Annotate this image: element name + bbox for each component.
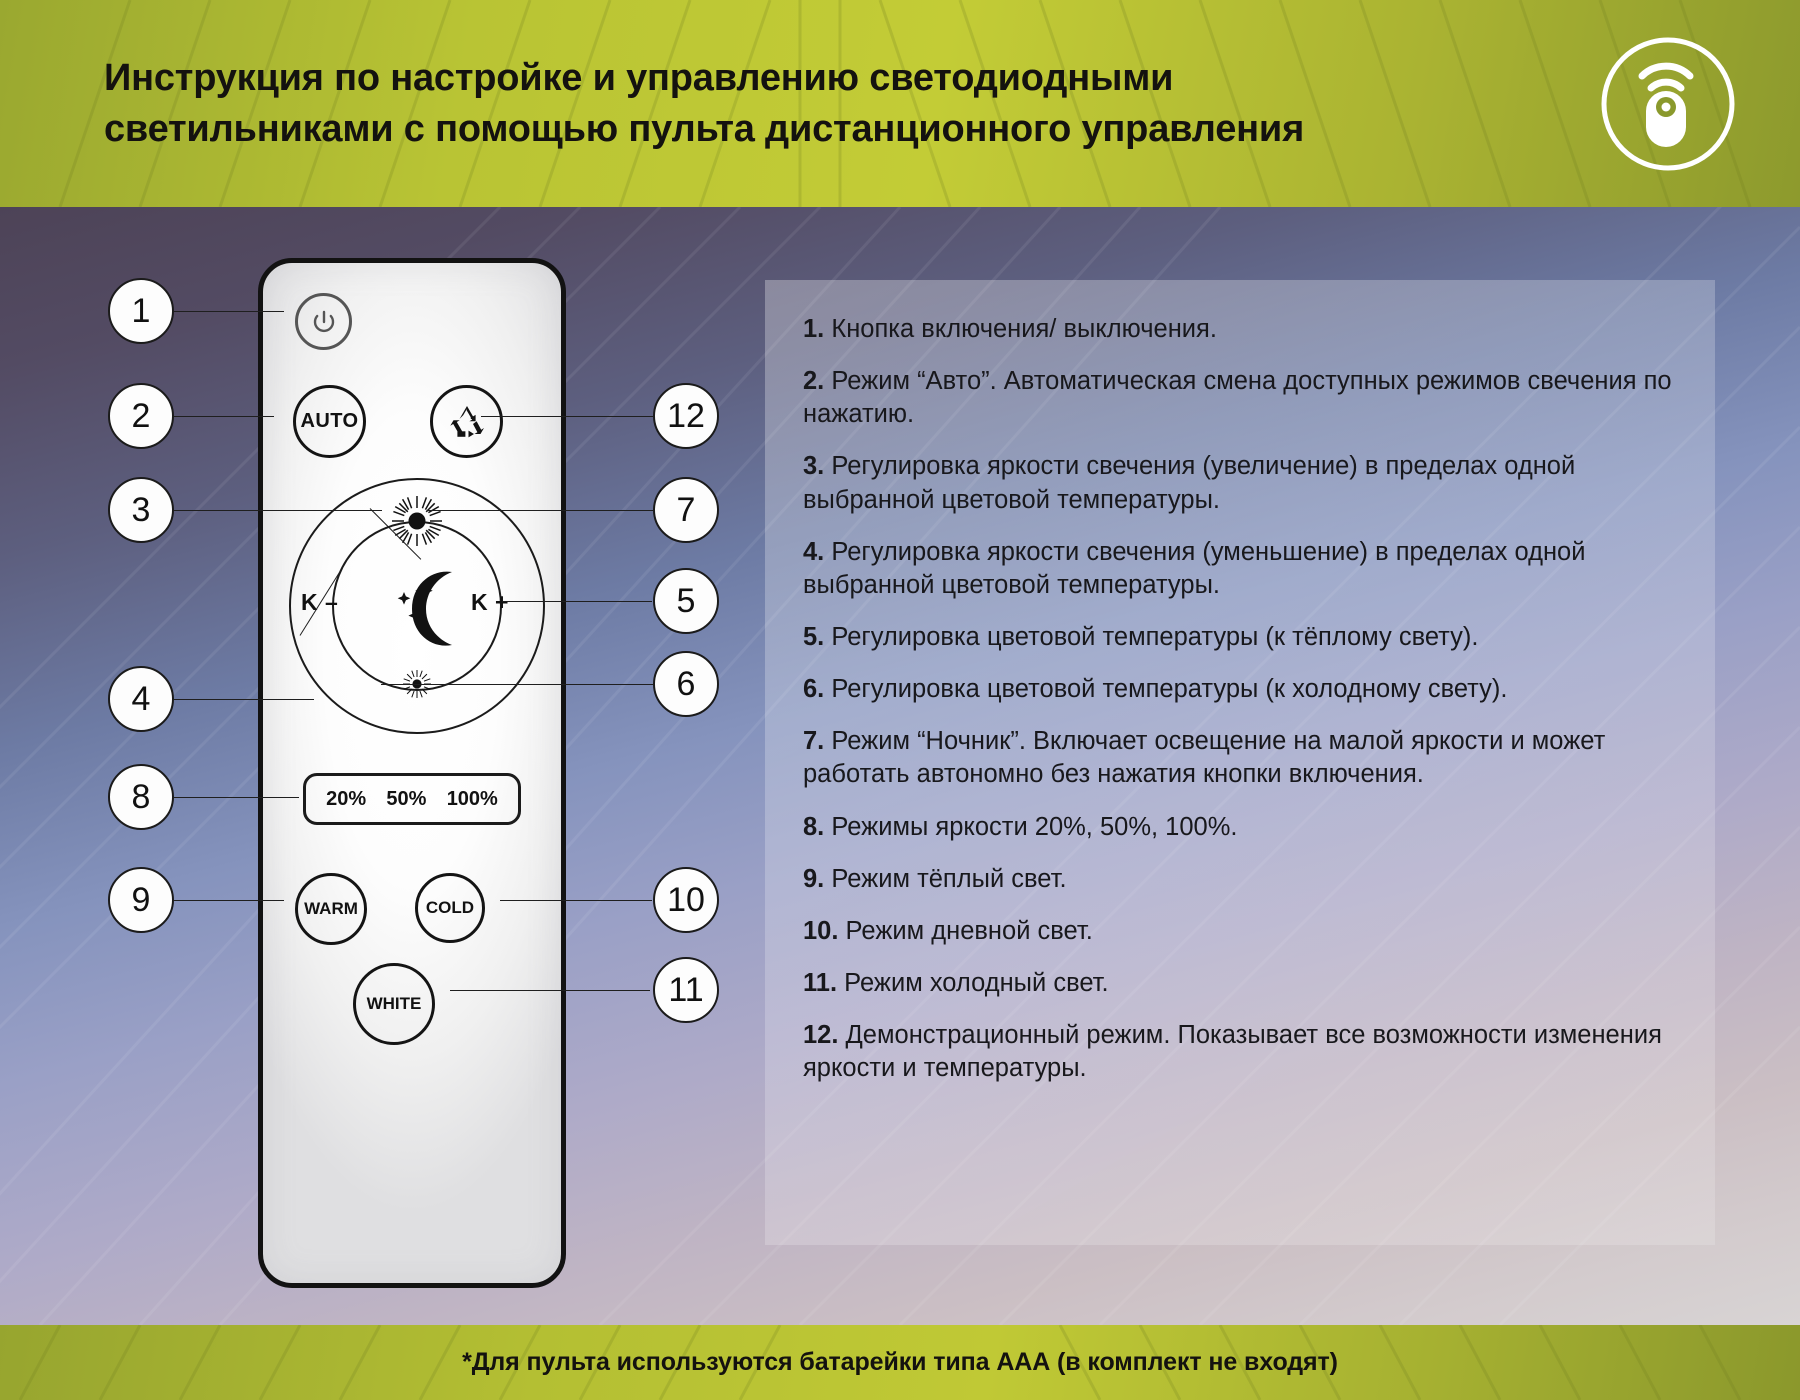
callout-label: 5 [677,582,696,621]
instruction-number: 10. [803,917,838,945]
instruction-text: Кнопка включения/ выключения. [824,315,1217,343]
callout-bubble-11[interactable]: 11 [653,957,719,1023]
leader-1 [174,311,284,312]
white-light-button[interactable]: WHITE [353,963,435,1045]
instruction-item: 9. Режим тёплый свет. [803,863,1683,896]
moon-stars-icon[interactable] [370,560,464,654]
instruction-number: 6. [803,675,824,703]
callout-bubble-5[interactable]: 5 [653,568,719,634]
leader-4 [174,699,314,700]
preset-50[interactable]: 50% [386,788,426,811]
power-icon [309,307,339,337]
leader-10 [500,900,652,901]
instruction-text: Режимы яркости 20%, 50%, 100%. [824,813,1237,841]
instruction-text: Режим тёплый свет. [824,865,1066,893]
callout-label: 6 [677,665,696,704]
callout-label: 4 [132,680,151,719]
instruction-text: Режим дневной свет. [838,917,1092,945]
callout-label: 12 [667,397,705,436]
callout-bubble-9[interactable]: 9 [108,867,174,933]
k-plus-label[interactable]: K + [471,589,509,616]
cold-button-label: COLD [426,898,474,918]
remote-control-device: AUTO [258,258,566,1288]
callout-label: 1 [132,292,151,331]
callout-bubble-8[interactable]: 8 [108,764,174,830]
instruction-text: Регулировка цветовой температуры (к тёпл… [824,623,1478,651]
brightness-preset-bar[interactable]: 20% 50% 100% [303,773,521,825]
instruction-number: 8. [803,813,824,841]
preset-20[interactable]: 20% [326,788,366,811]
instruction-item: 4. Регулировка яркости свечения (уменьше… [803,536,1683,602]
instruction-item: 7. Режим “Ночник”. Включает освещение на… [803,725,1683,791]
callout-label: 11 [668,971,703,1010]
warm-light-button[interactable]: WARM [295,873,367,945]
callout-bubble-2[interactable]: 2 [108,383,174,449]
infographic-page: Инструкция по настройке и управлению све… [0,0,1800,1400]
instruction-number: 5. [803,623,824,651]
instructions-list: 1. Кнопка включения/ выключения. 2. Режи… [803,313,1683,1104]
instruction-item: 5. Регулировка цветовой температуры (к т… [803,621,1683,654]
instruction-number: 2. [803,367,824,395]
instruction-number: 12. [803,1021,838,1049]
callout-bubble-7[interactable]: 7 [653,477,719,543]
instruction-item: 3. Регулировка яркости свечения (увеличе… [803,450,1683,516]
instruction-number: 9. [803,865,824,893]
instruction-text: Регулировка яркости свечения (уменьшение… [803,538,1585,599]
auto-mode-button[interactable]: AUTO [293,385,366,458]
instruction-number: 7. [803,727,824,755]
leader-12 [481,416,653,417]
instruction-text: Режим “Ночник”. Включает освещение на ма… [803,727,1605,788]
instruction-number: 11. [803,969,837,997]
sun-bright-icon[interactable] [390,494,444,548]
instruction-item: 2. Режим “Авто”. Автоматическая смена до… [803,365,1683,431]
instruction-item: 6. Регулировка цветовой температуры (к х… [803,673,1683,706]
callout-label: 3 [132,491,151,530]
instruction-text: Регулировка яркости свечения (увеличение… [803,452,1575,513]
white-button-label: WHITE [367,994,422,1014]
leader-2 [174,416,274,417]
callout-bubble-3[interactable]: 3 [108,477,174,543]
remote-control-signal-icon [1598,34,1738,174]
instruction-number: 3. [803,452,824,480]
footer-band: *Для пульта используются батарейки типа … [0,1325,1800,1400]
header-band: Инструкция по настройке и управлению све… [0,0,1800,207]
footer-note: *Для пульта используются батарейки типа … [462,1348,1338,1377]
page-title: Инструкция по настройке и управлению све… [104,53,1304,154]
instruction-item: 11. Режим холодный свет. [803,967,1683,1000]
preset-100[interactable]: 100% [447,788,498,811]
auto-button-label: AUTO [301,410,359,433]
callout-bubble-6[interactable]: 6 [653,651,719,717]
instruction-item: 10. Режим дневной свет. [803,915,1683,948]
callout-label: 7 [677,491,696,530]
instruction-text: Режим “Авто”. Автоматическая смена досту… [803,367,1672,428]
callout-bubble-12[interactable]: 12 [653,383,719,449]
leader-5 [502,601,652,602]
callout-label: 10 [667,881,705,920]
cold-light-button[interactable]: COLD [415,873,485,943]
instruction-number: 4. [803,538,824,566]
callout-bubble-10[interactable]: 10 [653,867,719,933]
callout-label: 9 [132,881,151,920]
recycle-loop-icon [445,400,489,444]
instruction-item: 1. Кнопка включения/ выключения. [803,313,1683,346]
callout-label: 8 [132,778,151,817]
demo-mode-button[interactable] [430,385,503,458]
callout-label: 2 [132,397,151,436]
instruction-text: Режим холодный свет. [837,969,1109,997]
leader-8 [174,797,299,798]
leader-9 [174,900,284,901]
instruction-number: 1. [803,315,824,343]
leader-6 [381,684,653,685]
leader-7 [427,510,653,511]
power-button[interactable] [295,293,352,350]
instruction-item: 12. Демонстрационный режим. Показывает в… [803,1019,1683,1085]
callout-bubble-1[interactable]: 1 [108,278,174,344]
instruction-text: Регулировка цветовой температуры (к холо… [824,675,1507,703]
leader-11 [450,990,650,991]
instructions-panel: 1. Кнопка включения/ выключения. 2. Режи… [765,280,1715,1245]
callout-bubble-4[interactable]: 4 [108,666,174,732]
warm-button-label: WARM [304,899,358,919]
instruction-item: 8. Режимы яркости 20%, 50%, 100%. [803,811,1683,844]
instruction-text: Демонстрационный режим. Показывает все в… [803,1021,1662,1082]
leader-3 [174,510,382,511]
